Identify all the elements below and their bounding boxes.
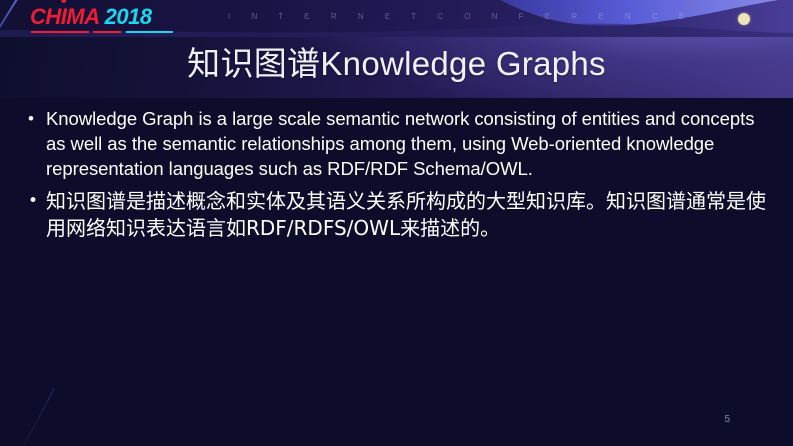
header-accent-dot-icon	[738, 13, 750, 25]
presentation-slide: CHIMA 2018 I N T E R N E T C O N F E R E…	[0, 0, 793, 446]
logo-brand-text: CHIMA	[30, 6, 100, 28]
list-item: Knowledge Graph is a large scale semanti…	[26, 106, 771, 181]
list-item: 知识图谱是描述概念和实体及其语义关系所构成的大型知识库。知识图谱通常是使用网络知…	[26, 188, 771, 242]
logo-underline-red2-icon	[93, 31, 121, 33]
slide-content-area: Knowledge Graph is a large scale semanti…	[0, 98, 793, 446]
header-tagline: I N T E R N E T C O N F E R E N C E	[228, 12, 694, 22]
logo-underline-cyan-icon	[126, 31, 173, 33]
diagonal-accent-bottom-icon	[20, 388, 55, 446]
chima-logo: CHIMA 2018	[30, 6, 152, 32]
bullet-list: Knowledge Graph is a large scale semanti…	[0, 98, 793, 242]
logo-year-text: 2018	[105, 6, 152, 28]
page-number: 5	[724, 414, 730, 426]
slide-title: 知识图谱Knowledge Graphs	[0, 42, 793, 86]
slide-header: CHIMA 2018 I N T E R N E T C O N F E R E…	[0, 0, 793, 37]
logo-underline-red-icon	[31, 31, 89, 33]
